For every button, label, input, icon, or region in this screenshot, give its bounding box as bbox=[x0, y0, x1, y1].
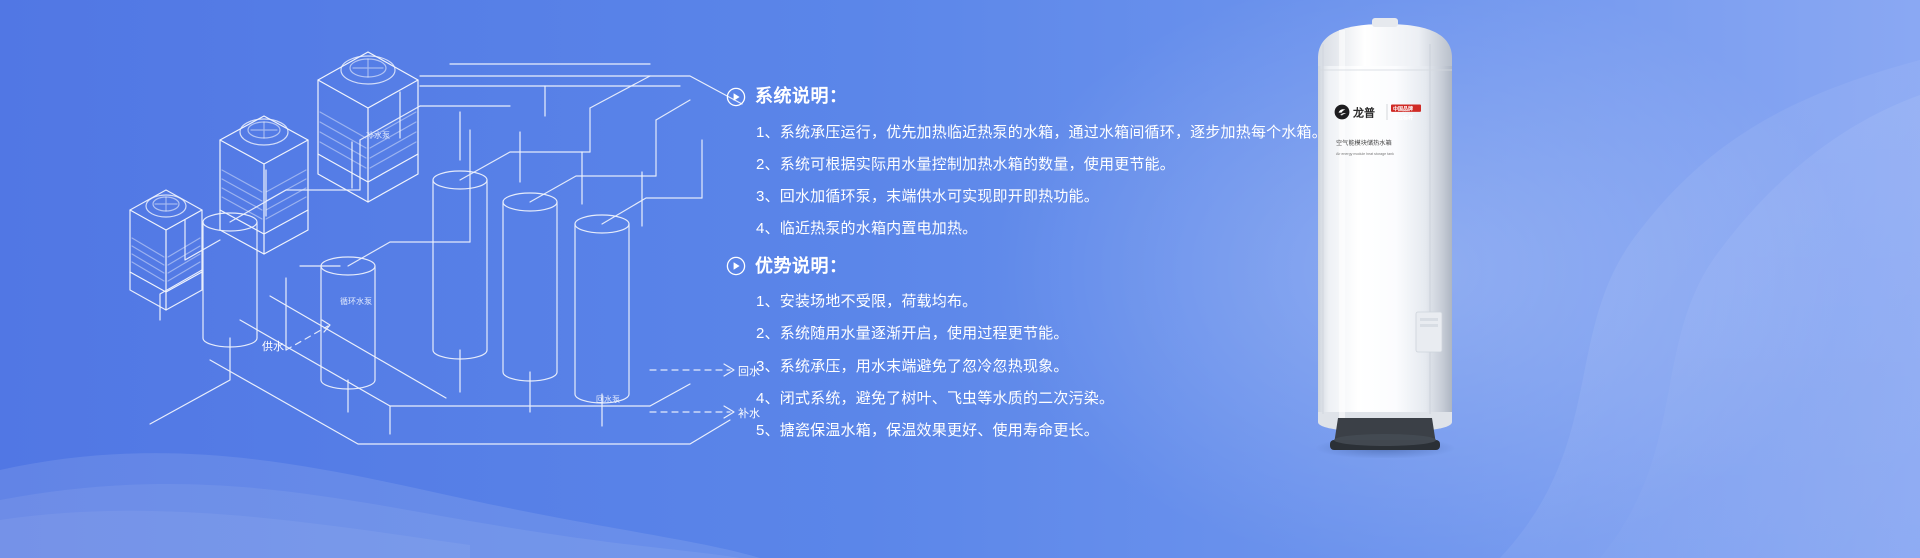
storage-tank-1 bbox=[203, 213, 257, 347]
section-item-list: 1、安装场地不受限，荷载均布。 2、系统随用水量逐渐开启，使用过程更节能。 3、… bbox=[726, 286, 1306, 447]
heat-pump-unit-1 bbox=[130, 190, 202, 310]
system-schematic-diagram: 供水 回水 补水 循环水泵 回水泵 补水泵 bbox=[90, 20, 810, 490]
list-item: 4、闭式系统，避免了树叶、飞虫等水质的二次污染。 bbox=[726, 383, 1306, 415]
section-item-list: 1、系统承压运行，优先加热临近热泵的水箱，通过水箱间循环，逐步加热每个水箱。 2… bbox=[726, 117, 1306, 246]
diagram-label-makeup-pump: 补水泵 bbox=[366, 130, 390, 140]
tank-body bbox=[1318, 66, 1452, 418]
list-item: 1、安装场地不受限，荷载均布。 bbox=[726, 286, 1306, 318]
list-item: 3、回水加循环泵，末端供水可实现即开即热功能。 bbox=[726, 181, 1306, 213]
product-model-en: Air energy module heat storage tank bbox=[1336, 152, 1394, 156]
specification-copy: 系统说明： 1、系统承压运行，优先加热临近热泵的水箱，通过水箱间循环，逐步加热每… bbox=[726, 86, 1306, 449]
list-item: 5、搪瓷保温水箱，保温效果更好、使用寿命更长。 bbox=[726, 415, 1306, 447]
storage-tank-3 bbox=[433, 171, 487, 359]
diagram-label-circulation-pump: 循环水泵 bbox=[340, 296, 372, 306]
pipe-network bbox=[300, 64, 742, 266]
heat-pump-unit-3 bbox=[318, 52, 418, 202]
tank-top-dome bbox=[1318, 24, 1452, 72]
section-title: 系统说明： bbox=[755, 86, 848, 108]
flow-arrow-heads bbox=[322, 320, 734, 418]
product-model-cn: 空气能模块储热水箱 bbox=[1336, 139, 1392, 147]
list-item: 2、系统随用水量逐渐开启，使用过程更节能。 bbox=[726, 318, 1306, 350]
brand-name-cn: 龙普 bbox=[1352, 106, 1375, 120]
diagram-labels: 供水 回水 补水 循环水泵 回水泵 补水泵 bbox=[262, 130, 760, 420]
list-item: 2、系统可根据实际用水量控制加热水箱的数量，使用更节能。 bbox=[726, 149, 1306, 181]
section-system-description: 系统说明： 1、系统承压运行，优先加热临近热泵的水箱，通过水箱间循环，逐步加热每… bbox=[726, 86, 1306, 246]
play-circle-icon bbox=[726, 87, 746, 107]
diagram-label-return-pump: 回水泵 bbox=[596, 394, 620, 404]
longpu-logo-icon bbox=[1335, 105, 1350, 120]
storage-tank-4 bbox=[503, 193, 557, 381]
section-heading: 优势说明： bbox=[726, 256, 1306, 278]
section-advantage-description: 优势说明： 1、安装场地不受限，荷载均布。 2、系统随用水量逐渐开启，使用过程更… bbox=[726, 256, 1306, 448]
section-divider-space bbox=[726, 248, 1306, 256]
list-item: 1、系统承压运行，优先加热临近热泵的水箱，通过水箱间循环，逐步加热每个水箱。 bbox=[726, 117, 1306, 149]
list-item: 4、临近热泵的水箱内置电加热。 bbox=[726, 213, 1306, 245]
tank-top-cap bbox=[1372, 18, 1398, 27]
heat-pump-unit-2 bbox=[220, 116, 308, 254]
storage-tank-5 bbox=[575, 215, 629, 403]
storage-tank-2 bbox=[321, 257, 375, 389]
product-image: 龙普 中国品牌 行业标杆 空气能模块储热水箱 Air energy module… bbox=[1290, 14, 1480, 458]
list-item: 3、系统承压，用水末端避免了忽冷忽热现象。 bbox=[726, 351, 1306, 383]
section-title: 优势说明： bbox=[755, 256, 848, 278]
play-circle-icon bbox=[726, 256, 746, 276]
diagram-label-supply-water: 供水 bbox=[262, 339, 284, 353]
storage-tank-group bbox=[203, 171, 629, 403]
brand-badge-label: 中国品牌 bbox=[1393, 105, 1413, 112]
section-heading: 系统说明： bbox=[726, 86, 1306, 108]
brand-badge-sub: 行业标杆 bbox=[1392, 115, 1413, 122]
product-banner: 供水 回水 补水 循环水泵 回水泵 补水泵 系统说明： 1、系统承压运行，优先加… bbox=[0, 0, 1920, 558]
